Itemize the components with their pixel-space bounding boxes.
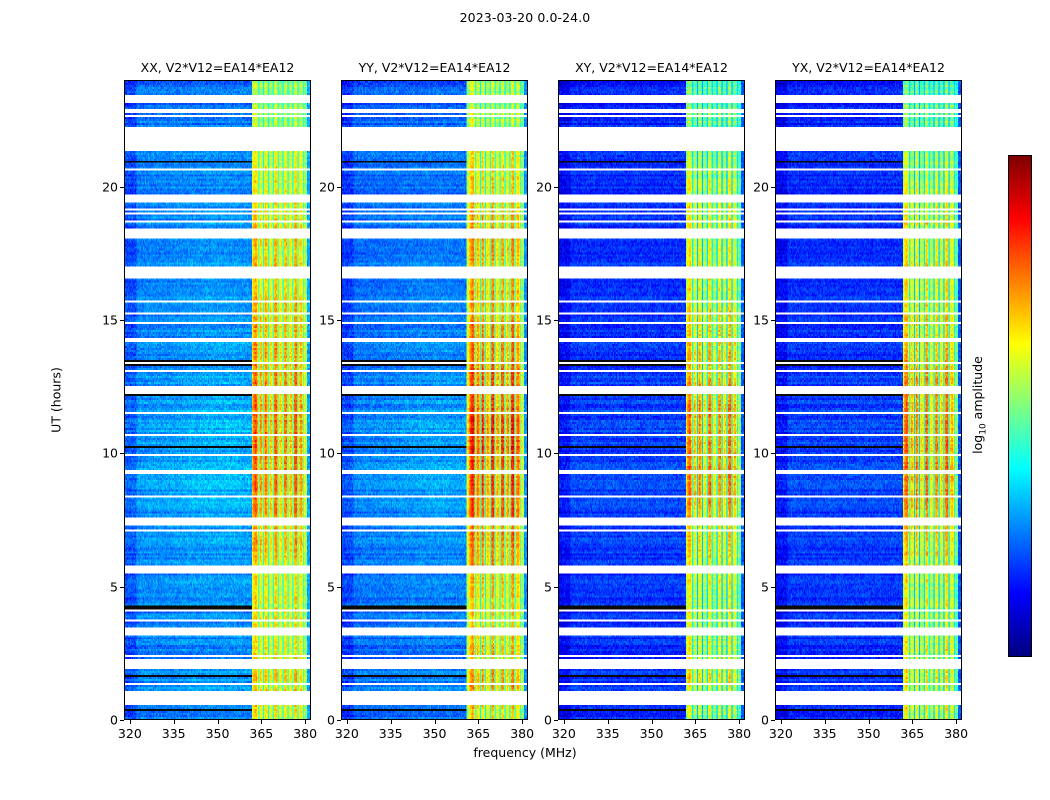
y-tick	[120, 587, 124, 588]
y-tick	[554, 320, 558, 321]
x-tick-label: 350	[857, 726, 881, 741]
y-tick	[554, 187, 558, 188]
y-axis-label: UT (hours)	[49, 367, 64, 433]
y-tick-label: 15	[753, 313, 769, 328]
x-tick	[261, 720, 262, 724]
y-tick-label: 10	[102, 446, 118, 461]
colorbar[interactable]: -4-3-2-101	[1008, 155, 1032, 657]
x-tick-label: 365	[900, 726, 924, 741]
y-tick-label: 15	[102, 313, 118, 328]
y-tick-label: 10	[753, 446, 769, 461]
x-tick-label: 380	[727, 726, 751, 741]
colorbar-label-main: log	[970, 435, 985, 454]
x-tick-label: 320	[335, 726, 359, 741]
y-tick-label: 0	[544, 713, 552, 728]
x-tick-label: 335	[162, 726, 186, 741]
x-tick	[912, 720, 913, 724]
x-tick	[695, 720, 696, 724]
figure-title: 2023-03-20 0.0-24.0	[0, 10, 1050, 25]
x-tick	[347, 720, 348, 724]
x-tick	[130, 720, 131, 724]
x-tick-label: 350	[206, 726, 230, 741]
subplot-title-yx: YX, V2*V12=EA14*EA12	[792, 60, 945, 80]
y-tick	[120, 453, 124, 454]
x-tick-label: 350	[640, 726, 664, 741]
y-tick-label: 0	[761, 713, 769, 728]
y-tick-label: 20	[102, 179, 118, 194]
heatmap-axes-yx[interactable]	[775, 80, 962, 720]
y-tick	[337, 320, 341, 321]
y-tick-label: 20	[319, 179, 335, 194]
x-tick	[218, 720, 219, 724]
x-tick	[174, 720, 175, 724]
x-tick	[956, 720, 957, 724]
colorbar-gradient	[1009, 156, 1031, 656]
subplot-xy[interactable]: XY, V2*V12=EA14*EA12 3203353503653800510…	[558, 80, 745, 720]
x-tick-label: 380	[944, 726, 968, 741]
y-tick	[120, 187, 124, 188]
x-tick	[478, 720, 479, 724]
x-tick-label: 335	[596, 726, 620, 741]
x-axis-label: frequency (MHz)	[0, 745, 1050, 760]
colorbar-tick	[1031, 456, 1032, 457]
x-tick	[608, 720, 609, 724]
colorbar-tick	[1031, 656, 1032, 657]
y-tick	[771, 720, 775, 721]
x-tick	[869, 720, 870, 724]
y-tick	[337, 187, 341, 188]
colorbar-label-tail: amplitude	[970, 356, 985, 423]
x-tick	[522, 720, 523, 724]
x-tick-label: 320	[552, 726, 576, 741]
x-tick	[825, 720, 826, 724]
heatmap-image-yy	[342, 81, 527, 719]
subplot-xx[interactable]: XX, V2*V12=EA14*EA12 3203353503653800510…	[124, 80, 311, 720]
x-tick	[391, 720, 392, 724]
y-tick-label: 5	[110, 579, 118, 594]
heatmap-image-yx	[776, 81, 961, 719]
x-tick-label: 335	[379, 726, 403, 741]
y-tick	[771, 187, 775, 188]
y-tick-label: 10	[536, 446, 552, 461]
x-tick	[739, 720, 740, 724]
subplot-yy[interactable]: YY, V2*V12=EA14*EA12 3203353503653800510…	[341, 80, 528, 720]
x-tick-label: 365	[249, 726, 273, 741]
colorbar-tick	[1031, 256, 1032, 257]
y-tick	[771, 587, 775, 588]
x-tick-label: 365	[466, 726, 490, 741]
y-tick	[337, 453, 341, 454]
x-tick-label: 365	[683, 726, 707, 741]
heatmap-image-xx	[125, 81, 310, 719]
colorbar-label-sub: 10	[978, 423, 988, 434]
heatmap-axes-xy[interactable]	[558, 80, 745, 720]
heatmap-axes-yy[interactable]	[341, 80, 528, 720]
y-tick-label: 15	[536, 313, 552, 328]
y-tick	[337, 720, 341, 721]
x-tick-label: 380	[293, 726, 317, 741]
y-tick-label: 20	[753, 179, 769, 194]
y-tick-label: 5	[327, 579, 335, 594]
y-tick-label: 15	[319, 313, 335, 328]
y-tick-label: 0	[110, 713, 118, 728]
x-tick-label: 335	[813, 726, 837, 741]
heatmap-axes-xx[interactable]	[124, 80, 311, 720]
colorbar-label: log10 amplitude	[970, 356, 989, 454]
y-tick-label: 10	[319, 446, 335, 461]
subplot-title-xy: XY, V2*V12=EA14*EA12	[575, 60, 728, 80]
y-tick	[554, 453, 558, 454]
x-tick-label: 320	[769, 726, 793, 741]
x-tick	[435, 720, 436, 724]
figure-canvas: 2023-03-20 0.0-24.0 XX, V2*V12=EA14*EA12…	[0, 0, 1050, 800]
y-tick	[771, 320, 775, 321]
x-tick-label: 380	[510, 726, 534, 741]
y-tick	[771, 453, 775, 454]
heatmap-image-xy	[559, 81, 744, 719]
colorbar-tick	[1031, 356, 1032, 357]
y-tick-label: 5	[544, 579, 552, 594]
x-tick	[564, 720, 565, 724]
y-tick	[554, 720, 558, 721]
x-tick-label: 350	[423, 726, 447, 741]
x-tick	[305, 720, 306, 724]
x-tick-label: 320	[118, 726, 142, 741]
y-tick-label: 5	[761, 579, 769, 594]
subplot-yx[interactable]: YX, V2*V12=EA14*EA12 3203353503653800510…	[775, 80, 962, 720]
y-tick	[120, 320, 124, 321]
subplot-title-yy: YY, V2*V12=EA14*EA12	[359, 60, 511, 80]
y-tick-label: 20	[536, 179, 552, 194]
y-tick	[120, 720, 124, 721]
colorbar-tick	[1031, 556, 1032, 557]
y-tick	[337, 587, 341, 588]
subplot-title-xx: XX, V2*V12=EA14*EA12	[141, 60, 295, 80]
y-tick-label: 0	[327, 713, 335, 728]
colorbar-tick	[1031, 156, 1032, 157]
x-tick	[781, 720, 782, 724]
y-tick	[554, 587, 558, 588]
x-tick	[652, 720, 653, 724]
